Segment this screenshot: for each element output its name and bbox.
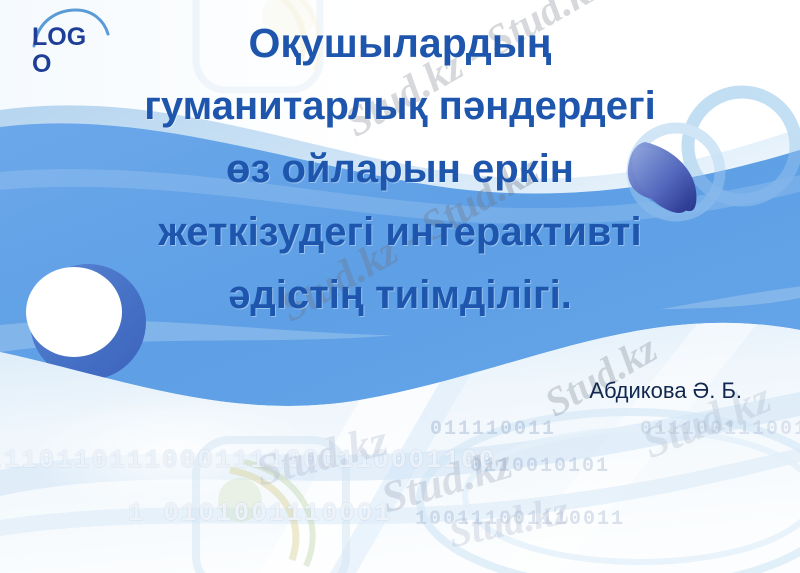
logo-text: LOGO — [32, 24, 88, 78]
title-line-3: өз ойларын еркін — [60, 138, 740, 201]
author-name: Абдикова Ә. Б. — [0, 378, 742, 404]
title-line-5: әдістің тиімділігі. — [60, 264, 740, 327]
presentation-slide: 11101101110001111000110001100 1 01010011… — [0, 0, 800, 573]
title-line-2: гуманитарлық пәндердегі — [60, 75, 740, 138]
title-line-1: Оқушылардың — [60, 12, 740, 75]
title-line-4: жеткізудегі интерактивті — [60, 201, 740, 264]
logo[interactable]: LOGO — [26, 6, 118, 78]
page-title: Оқушылардың гуманитарлық пәндердегі өз о… — [60, 12, 740, 327]
